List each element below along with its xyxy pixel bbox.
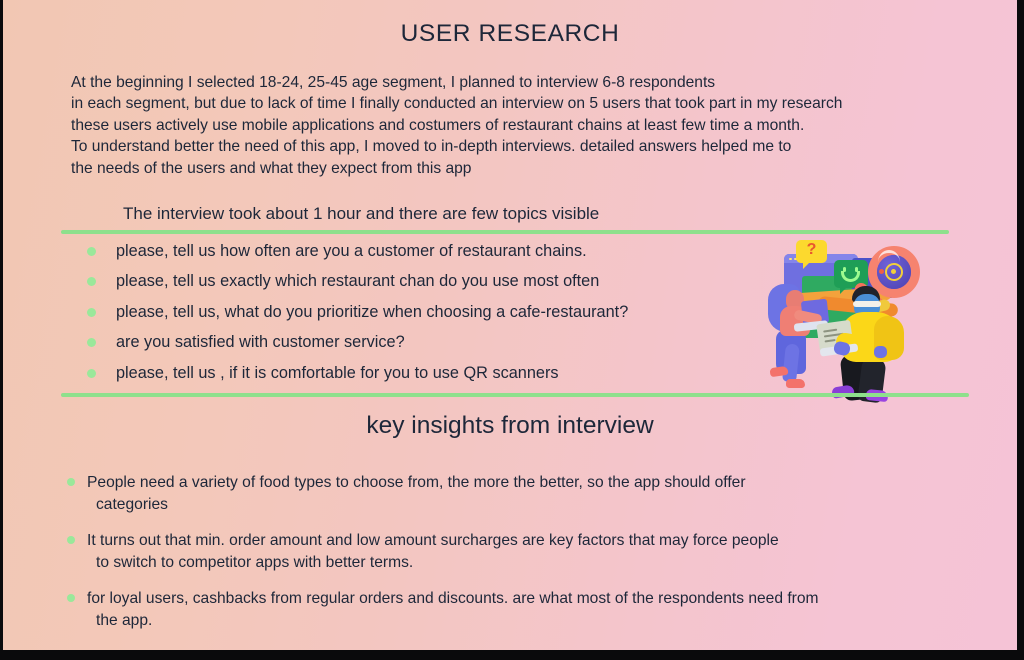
topic-label: are you satisfied with customer service? xyxy=(116,333,405,351)
person-one-shoe xyxy=(786,379,805,388)
interview-topics-list: please, tell us how often are you a cust… xyxy=(87,241,727,393)
question-mark-glyph: ? xyxy=(796,241,827,259)
intro-line: At the beginning I selected 18-24, 25-45… xyxy=(71,72,1011,93)
bullet-dot-icon xyxy=(67,594,75,602)
topic-label: please, tell us exactly which restaurant… xyxy=(116,272,599,290)
list-item: please, tell us how often are you a cust… xyxy=(87,241,727,271)
bullet-dot-icon xyxy=(67,536,75,544)
insight-line-2: to switch to competitor apps with better… xyxy=(87,552,987,574)
topic-label: please, tell us, what do you prioritize … xyxy=(116,303,628,321)
bullet-dot-icon xyxy=(87,308,96,317)
intro-line: the needs of the users and what they exp… xyxy=(71,158,1011,179)
insight-line-1: People need a variety of food types to c… xyxy=(87,474,746,491)
list-item: please, tell us exactly which restaurant… xyxy=(87,271,727,301)
divider-bottom xyxy=(61,393,969,397)
intro-line: in each segment, but due to lack of time… xyxy=(71,93,1011,114)
bullet-dot-icon xyxy=(87,277,96,286)
person-one-leg xyxy=(782,343,800,382)
chart-dot xyxy=(891,269,896,274)
chart-dot xyxy=(879,269,884,274)
list-item: for loyal users, cashbacks from regular … xyxy=(67,588,987,631)
slide-canvas: USER RESEARCH At the beginning I selecte… xyxy=(3,0,1017,650)
insight-line-2: categories xyxy=(87,494,987,516)
divider-top xyxy=(61,230,949,234)
page-title: USER RESEARCH xyxy=(3,20,1017,48)
bullet-dot-icon xyxy=(67,478,75,486)
topic-label: please, tell us , if it is comfortable f… xyxy=(116,364,559,382)
list-item: please, tell us , if it is comfortable f… xyxy=(87,363,727,393)
bullet-dot-icon xyxy=(87,247,96,256)
insight-line-2: the app. xyxy=(87,610,987,632)
list-item: please, tell us, what do you prioritize … xyxy=(87,302,727,332)
intro-line: To understand better the need of this ap… xyxy=(71,136,1011,157)
interview-subheading: The interview took about 1 hour and ther… xyxy=(123,204,599,224)
section-heading-key-insights: key insights from interview xyxy=(3,412,1017,440)
person-two-visor xyxy=(853,301,881,307)
intro-line: these users actively use mobile applicat… xyxy=(71,115,1011,136)
bullet-dot-icon xyxy=(87,338,96,347)
insight-line-1: for loyal users, cashbacks from regular … xyxy=(87,590,819,607)
topic-label: please, tell us how often are you a cust… xyxy=(116,242,587,260)
insight-line-1: It turns out that min. order amount and … xyxy=(87,532,779,549)
key-insights-list: People need a variety of food types to c… xyxy=(67,472,987,647)
list-item: It turns out that min. order amount and … xyxy=(67,530,987,573)
intro-paragraph: At the beginning I selected 18-24, 25-45… xyxy=(71,72,1011,179)
person-two-cuff xyxy=(874,346,887,358)
user-research-illustration: ? xyxy=(756,238,931,390)
list-item: People need a variety of food types to c… xyxy=(67,472,987,515)
list-item: are you satisfied with customer service? xyxy=(87,332,727,362)
bullet-dot-icon xyxy=(87,369,96,378)
question-speech-bubble-icon: ? xyxy=(796,240,827,263)
smiley-mouth xyxy=(841,271,860,282)
